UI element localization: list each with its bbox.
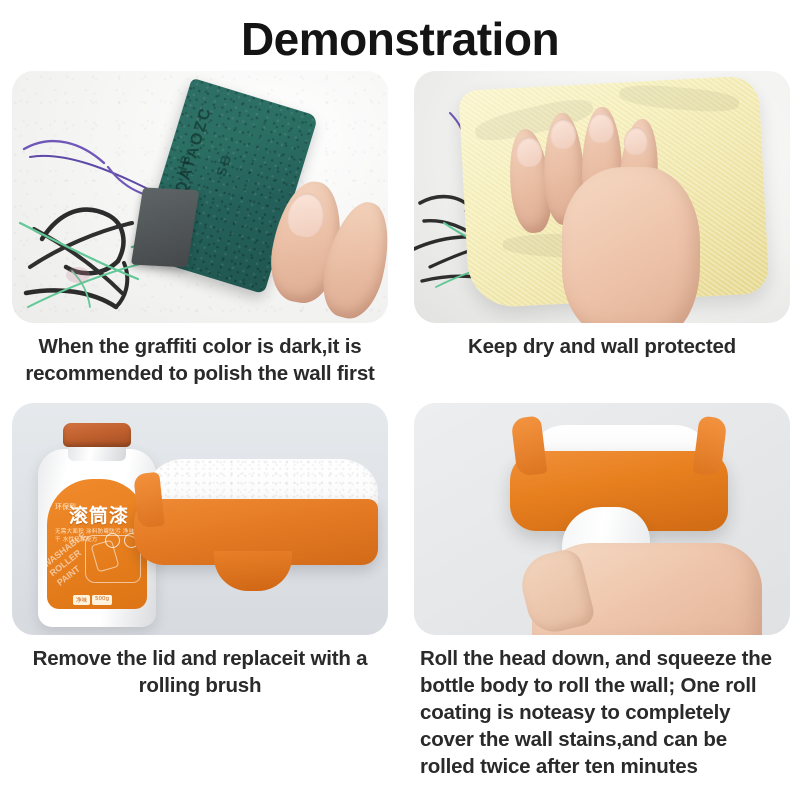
bottle-label: 环保型 滚筒漆 无需大面积 涂料防霉防污 净味快速干 水性环保配方 WASHAB…: [47, 479, 147, 609]
panel-caption: Remove the lid and replaceit with a roll…: [12, 635, 388, 699]
photo-roll-the-wall: [414, 403, 790, 635]
label-weight: 500g: [92, 595, 112, 605]
panel-caption: Keep dry and wall protected: [414, 323, 790, 360]
photo-polish-wall: QATAOZC HB SB: [12, 71, 388, 323]
bottle-cap: [63, 423, 131, 447]
roller-arm: [133, 471, 165, 527]
photo-replace-lid: 环保型 滚筒漆 无需大面积 涂料防霉防污 净味快速干 水性环保配方 WASHAB…: [12, 403, 388, 635]
grid-row-top: QATAOZC HB SB When the graffiti color is…: [12, 71, 788, 387]
hand-palm: [562, 167, 700, 323]
sanding-block-edge: [131, 187, 199, 267]
page-title: Demonstration: [0, 0, 800, 71]
panel-replace-lid: 环保型 滚筒漆 无需大面积 涂料防霉防污 净味快速干 水性环保配方 WASHAB…: [12, 403, 388, 780]
demonstration-grid: QATAOZC HB SB When the graffiti color is…: [0, 71, 800, 780]
roller-brush-head: [134, 459, 378, 609]
grid-row-bottom: 环保型 滚筒漆 无需大面积 涂料防霉防污 净味快速干 水性环保配方 WASHAB…: [12, 403, 788, 780]
label-badge-cn: 净味: [73, 595, 90, 605]
label-badge-group: 净味 500g: [73, 595, 112, 605]
panel-polish-wall: QATAOZC HB SB When the graffiti color is…: [12, 71, 388, 387]
panel-caption: When the graffiti color is dark,it is re…: [12, 323, 388, 387]
panel-roll-the-wall: Roll the head down, and squeeze the bott…: [414, 403, 790, 780]
fingernail: [588, 113, 614, 143]
panel-caption: Roll the head down, and squeeze the bott…: [414, 635, 790, 780]
hand: [510, 107, 708, 323]
label-title-cn: 滚筒漆: [69, 501, 129, 528]
roller-stem: [214, 551, 292, 591]
panel-keep-dry: Keep dry and wall protected: [414, 71, 790, 387]
photo-keep-dry: [414, 71, 790, 323]
label-illustration: [85, 535, 141, 583]
fingernail: [550, 119, 576, 149]
